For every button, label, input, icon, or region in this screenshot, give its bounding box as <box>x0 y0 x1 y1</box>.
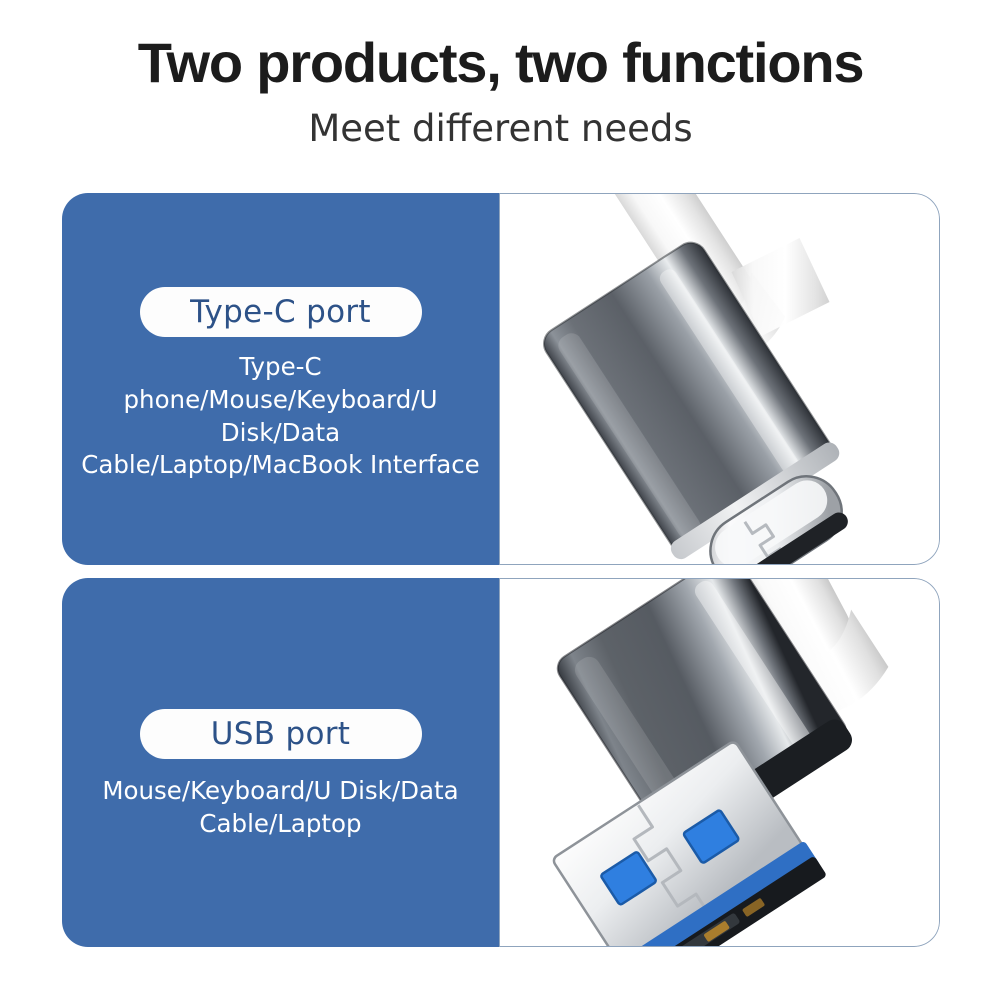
product-card-type-c[interactable]: Type-C port Type-C phone/Mouse/Keyboard/… <box>62 193 940 565</box>
page-title: Two products, two functions <box>0 0 1001 93</box>
badge-type-c-port: Type-C port <box>140 287 422 337</box>
product-card-usb[interactable]: USB port Mouse/Keyboard/U Disk/Data Cabl… <box>62 578 940 947</box>
badge-usb-port: USB port <box>140 709 422 759</box>
badge-label: Type-C port <box>190 294 371 330</box>
badge-label: USB port <box>211 716 350 752</box>
card-description-type-c: Type-C phone/Mouse/Keyboard/U Disk/Data … <box>81 351 481 482</box>
card-image-panel-usb <box>499 578 940 947</box>
page-subtitle: Meet different needs <box>0 93 1001 150</box>
card-info-panel-type-c: Type-C port Type-C phone/Mouse/Keyboard/… <box>62 193 499 565</box>
usb-type-a-connector-image <box>500 579 939 946</box>
card-info-panel-usb: USB port Mouse/Keyboard/U Disk/Data Cabl… <box>62 578 499 947</box>
card-image-panel-type-c <box>499 193 940 565</box>
card-description-usb: Mouse/Keyboard/U Disk/Data Cable/Laptop <box>101 775 461 841</box>
usb-type-c-connector-image <box>500 194 939 564</box>
page-header: Two products, two functions Meet differe… <box>0 0 1001 149</box>
